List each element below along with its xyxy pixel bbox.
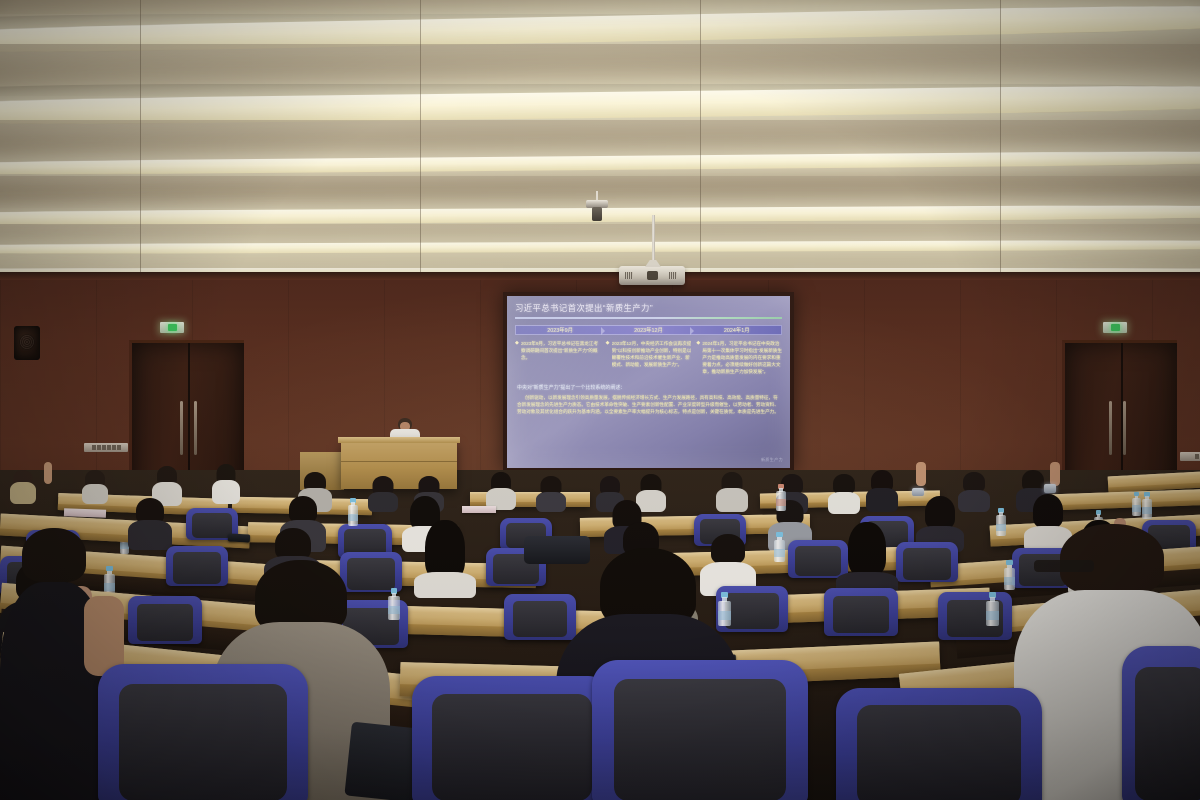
wall-mounted-loudspeaker <box>14 326 40 360</box>
door-handle[interactable] <box>180 401 183 455</box>
timeline-bar: 2023年9月 2023年12月 2024年1月 <box>515 325 782 335</box>
camera-body <box>592 207 602 221</box>
slide-paragraph-block: 中央对“新质生产力”提出了一个比较系统的阐述： 创新驱动，以新发展理念引领高质量… <box>515 382 782 416</box>
door-handle[interactable] <box>194 401 197 455</box>
handout-paper[interactable] <box>462 506 496 513</box>
smartphone[interactable] <box>1044 484 1056 493</box>
timeline-date: 2024年1月 <box>693 326 781 334</box>
slide-paragraph-lead: 中央对“新质生产力”提出了一个比较系统的阐述： <box>517 385 780 392</box>
ceiling-mounted-projector <box>619 266 685 285</box>
bullet-icon: ◆ <box>606 340 610 376</box>
camera-stalk <box>596 191 598 200</box>
raised-arm <box>44 462 52 484</box>
presentation-slide: 习近平总书记首次提出“新质生产力” 2023年9月 2023年12月 2024年… <box>507 296 790 468</box>
exit-sign-right <box>1103 322 1127 333</box>
timeline-date: 2023年9月 <box>516 326 604 334</box>
audience-member <box>82 470 108 504</box>
slide-paragraph-body: 创新驱动，以新发展理念引领高质量发展，摆脱传统经济增长方式、生产力发展路径，具有… <box>517 394 780 416</box>
exit-sign-left <box>160 322 184 333</box>
ceiling <box>0 0 1200 300</box>
door-handle[interactable] <box>1109 401 1112 455</box>
audience-member <box>128 498 172 550</box>
auditorium-seat-foreground[interactable] <box>592 660 808 800</box>
water-bottle[interactable] <box>776 484 786 511</box>
audience-member <box>10 470 36 504</box>
auditorium-seat[interactable] <box>938 592 1012 640</box>
water-bottle[interactable] <box>996 508 1006 536</box>
wall-top-trim <box>0 272 1200 280</box>
water-bottle[interactable] <box>774 532 785 562</box>
slide-title-rule <box>515 317 782 319</box>
slide-column: ◆ 2023年12月，中央经济工作会议再次提到“以科技创新推动产业创新，特别是以… <box>606 340 692 376</box>
wall-switch-plate[interactable] <box>84 443 128 452</box>
timeline-date: 2023年12月 <box>604 326 692 334</box>
slide-watermark: 新质生产力 <box>761 457 783 463</box>
smartphone[interactable] <box>228 533 250 542</box>
auditorium-seat[interactable] <box>824 588 898 636</box>
audience-member <box>828 474 860 514</box>
audience-member <box>716 472 748 512</box>
auditorium-seat-foreground[interactable] <box>836 688 1042 800</box>
audience-member-long-hair <box>836 522 898 596</box>
water-bottle[interactable] <box>986 592 999 626</box>
water-bottle[interactable] <box>348 498 358 526</box>
audience-member <box>866 470 898 512</box>
lecture-hall-photo: 习近平总书记首次提出“新质生产力” 2023年9月 2023年12月 2024年… <box>0 0 1200 800</box>
slide-column-text: 2023年12月，中央经济工作会议再次提到“以科技创新推动产业创新，特别是以颠覆… <box>612 340 692 376</box>
audience-member-long-hair <box>414 520 476 598</box>
slide-columns: ◆ 2023年9月，习近平总书记在黑龙江考察调研期间首次提出“新质生产力”的概念… <box>515 340 782 376</box>
ceiling-security-camera <box>586 200 608 208</box>
water-bottle[interactable] <box>1132 492 1141 516</box>
projection-screen: 习近平总书记首次提出“新质生产力” 2023年9月 2023年12月 2024年… <box>507 296 790 468</box>
auditorium-seat[interactable] <box>896 542 958 582</box>
audience-member <box>486 472 516 510</box>
slide-column: ◆ 2024年1月，习近平总书记在中央政治局第十一次集体学习时指出“发展新质生产… <box>696 340 782 376</box>
raised-arm <box>916 462 926 486</box>
slide-column-text: 2024年1月，习近平总书记在中央政治局第十一次集体学习时指出“发展新质生产力是… <box>702 340 782 376</box>
wall-switch-plate[interactable] <box>1180 452 1200 461</box>
slide-column: ◆ 2023年9月，习近平总书记在黑龙江考察调研期间首次提出“新质生产力”的概念… <box>515 340 601 376</box>
audience-member <box>368 476 398 512</box>
smartphone[interactable] <box>912 488 924 496</box>
exit-icon <box>168 324 177 331</box>
slide-title: 习近平总书记首次提出“新质生产力” <box>515 302 782 314</box>
auditorium-seat[interactable] <box>128 596 202 644</box>
water-bottle[interactable] <box>1142 492 1152 519</box>
auditorium-seat-foreground[interactable] <box>1122 646 1200 800</box>
exit-icon <box>1111 324 1120 331</box>
audience-member <box>212 464 240 504</box>
bullet-icon: ◆ <box>696 340 700 376</box>
raised-arm <box>1050 462 1060 486</box>
projection-screen-frame: 习近平总书记首次提出“新质生产力” 2023年9月 2023年12月 2024年… <box>503 292 794 472</box>
auditorium-seat-foreground[interactable] <box>412 676 612 800</box>
bullet-icon: ◆ <box>515 340 519 376</box>
eyeglasses <box>1034 560 1094 572</box>
auditorium-seat-foreground[interactable] <box>98 664 308 800</box>
door-handle[interactable] <box>1123 401 1126 455</box>
slide-column-text: 2023年9月，习近平总书记在黑龙江考察调研期间首次提出“新质生产力”的概念。 <box>521 340 601 376</box>
audience-member <box>536 476 566 512</box>
projector-lens <box>647 271 658 280</box>
